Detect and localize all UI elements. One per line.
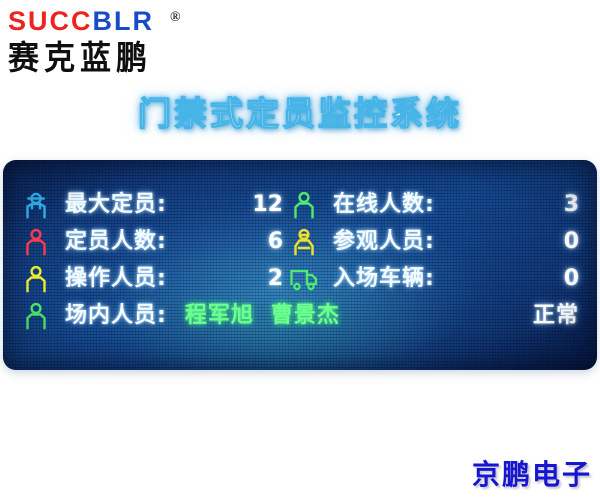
led-value: 3 bbox=[435, 192, 581, 218]
list-item: 曹景杰 bbox=[271, 303, 340, 329]
led-field-visitor-count: 参观人员: 0 bbox=[289, 223, 581, 260]
led-label: 参观人员: bbox=[333, 229, 435, 255]
person-icon bbox=[21, 301, 51, 331]
status-badge: 正常 bbox=[533, 303, 581, 329]
led-value: 12 bbox=[167, 192, 289, 218]
footer-company-name: 京鹏电子 bbox=[472, 458, 592, 492]
led-field-online-count: 在线人数: 3 bbox=[289, 186, 581, 223]
led-label: 定员人数: bbox=[65, 229, 167, 255]
led-row: 最大定员: 12 在线人数: 3 bbox=[21, 186, 581, 223]
logo-latin-wordmark: SUCCBLR ® bbox=[8, 6, 228, 36]
truck-icon bbox=[289, 264, 319, 294]
logo-latin-part1: SUCC bbox=[8, 6, 93, 36]
person-visitor-icon bbox=[289, 227, 319, 257]
led-label: 最大定员: bbox=[65, 192, 167, 218]
onsite-name-list: 程军旭 曹景杰 bbox=[185, 303, 533, 329]
person-icon bbox=[21, 264, 51, 294]
registered-trademark-icon: ® bbox=[170, 3, 182, 33]
logo-chinese-wordmark: 赛克蓝鹏 bbox=[8, 37, 228, 79]
logo-latin-part2: BLR bbox=[93, 6, 155, 36]
led-row: 操作人员: 2 入场车辆: bbox=[21, 260, 581, 297]
page-title: 门禁式定员监控系统 bbox=[0, 92, 600, 136]
company-logo: SUCCBLR ® 赛克蓝鹏 bbox=[8, 6, 228, 82]
led-field-max-capacity: 最大定员: 12 bbox=[21, 186, 289, 223]
led-field-quota-count: 定员人数: 6 bbox=[21, 223, 289, 260]
led-value: 6 bbox=[167, 229, 289, 255]
person-icon bbox=[21, 227, 51, 257]
led-label: 在线人数: bbox=[333, 192, 435, 218]
led-label: 入场车辆: bbox=[333, 266, 435, 292]
led-label: 场内人员: bbox=[65, 303, 167, 329]
led-row-onsite-personnel: 场内人员: 程军旭 曹景杰 正常 bbox=[21, 297, 581, 334]
person-icon bbox=[289, 190, 319, 220]
list-item: 程军旭 bbox=[185, 303, 254, 329]
screenshot-root: SUCCBLR ® 赛克蓝鹏 门禁式定员监控系统 bbox=[0, 0, 600, 500]
led-label: 操作人员: bbox=[65, 266, 167, 292]
led-value: 2 bbox=[167, 266, 289, 292]
led-field-operator-count: 操作人员: 2 bbox=[21, 260, 289, 297]
led-display-panel: 最大定员: 12 在线人数: 3 bbox=[3, 160, 597, 370]
led-value: 0 bbox=[435, 266, 581, 292]
led-row: 定员人数: 6 参观人员: bbox=[21, 223, 581, 260]
led-value: 0 bbox=[435, 229, 581, 255]
led-content-grid: 最大定员: 12 在线人数: 3 bbox=[21, 186, 581, 344]
person-hardhat-icon bbox=[21, 190, 51, 220]
led-field-vehicle-count: 入场车辆: 0 bbox=[289, 260, 581, 297]
